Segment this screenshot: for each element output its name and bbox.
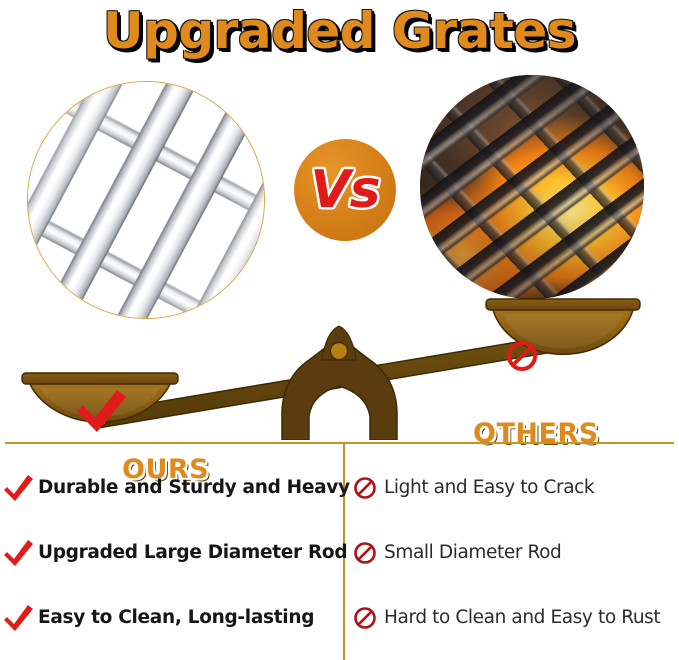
- prohibited-icon: [353, 476, 377, 500]
- list-item: Durable and Sturdy and Heavy: [0, 455, 343, 520]
- list-item-label: Light and Easy to Crack: [384, 477, 594, 498]
- product-comparison-infographic: Upgraded Grates: [0, 0, 679, 660]
- others-side-label: OTHERS: [473, 418, 599, 449]
- check-icon: [4, 473, 34, 503]
- balance-scale-graphic: [0, 60, 679, 440]
- list-item-label: Hard to Clean and Easy to Rust: [384, 607, 660, 628]
- list-item: Small Diameter Rod: [345, 520, 679, 585]
- check-icon: [4, 603, 34, 633]
- ours-feature-list: Durable and Sturdy and Heavy Upgraded La…: [0, 455, 343, 650]
- others-scale-pan: [486, 299, 640, 369]
- list-item-label: Durable and Sturdy and Heavy: [38, 477, 350, 498]
- prohibited-icon: [353, 541, 377, 565]
- list-item: Easy to Clean, Long-lasting: [0, 585, 343, 650]
- comparison-hero: OURS OTHERS: [0, 60, 679, 440]
- check-icon: [4, 538, 34, 568]
- prohibited-icon: [353, 606, 377, 630]
- list-item-label: Easy to Clean, Long-lasting: [38, 607, 314, 628]
- scale-pivot: [331, 343, 348, 360]
- list-item: Upgraded Large Diameter Rod: [0, 520, 343, 585]
- ours-scale-pan: [22, 373, 178, 432]
- others-feature-list: Light and Easy to Crack Small Diameter R…: [345, 455, 679, 650]
- list-item: Hard to Clean and Easy to Rust: [345, 585, 679, 650]
- vs-badge-label: Vs: [310, 160, 379, 220]
- list-item-label: Small Diameter Rod: [384, 542, 561, 563]
- horizontal-divider: [5, 442, 674, 444]
- list-item: Light and Easy to Crack: [345, 455, 679, 520]
- page-title: Upgraded Grates: [0, 2, 679, 60]
- vs-badge: Vs: [294, 139, 396, 241]
- list-item-label: Upgraded Large Diameter Rod: [38, 542, 347, 563]
- scale-base: [282, 326, 397, 440]
